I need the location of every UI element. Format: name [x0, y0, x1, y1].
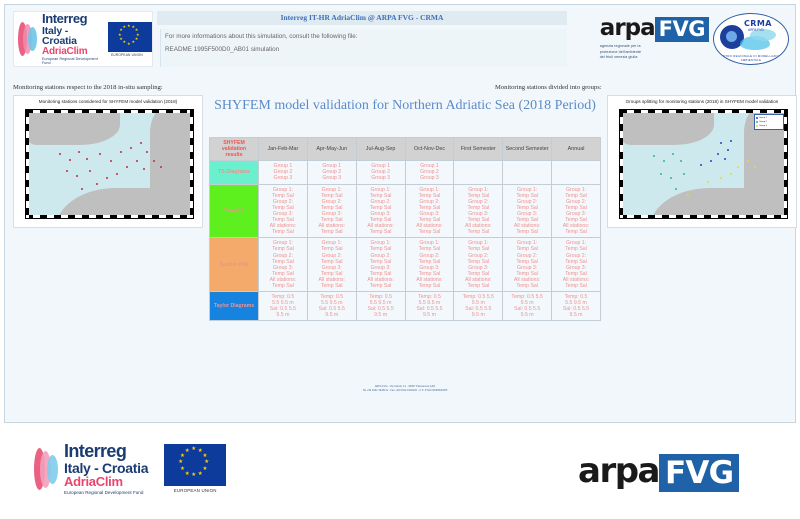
cell-ts-amj[interactable]: Group 1Group 2Group 3 [307, 161, 356, 184]
cell-ts-ond[interactable]: Group 1Group 2Group 3 [405, 161, 454, 184]
map-right-title: Groups splitting for monitoring stations… [608, 99, 796, 104]
simulation-note: For more informations about this simulat… [160, 29, 567, 67]
cell-boxplot-jas[interactable]: Group 1:Temp SalGroup 2:Temp SalGroup 3:… [356, 184, 405, 238]
arpa-crma-logo-header: arpa FVG agenzia regionale per la protez… [573, 9, 789, 69]
eu-flag-icon: ★★★★★★★★★★★★ [164, 444, 226, 486]
cell-boxplot-jfm[interactable]: Group 1:Temp SalGroup 2:Temp SalGroup 3:… [259, 184, 308, 238]
interreg-line2: Italy - Croatia [64, 461, 148, 476]
cell-ts-second-sem [503, 161, 552, 184]
cell-boxplot-annual[interactable]: Group 1:Temp SalGroup 2:Temp SalGroup 3:… [552, 184, 601, 238]
legend-label-group3: Group 3 [759, 124, 767, 128]
axis-top [620, 110, 787, 113]
cell-taylor-annual[interactable]: Temp: 0.55.5 9.5 mSal: 0.5 5.59.5 m [552, 292, 601, 321]
arpa-subtitle-line3: del friuli venezia giulia [600, 55, 709, 60]
arpa-fvg-logo-header: arpa FVG agenzia regionale per la protez… [600, 17, 709, 60]
table-header-row: SHYFEMvalidationresults Jan-Feb-Mar Apr-… [210, 138, 601, 161]
table-row: TS-Diagrams Group 1Group 2Group 3 Group … [210, 161, 601, 184]
interreg-adriaclim-logo-footer: Interreg Italy - Croatia AdriaClim Europ… [34, 442, 226, 496]
cell-boxplot-ond[interactable]: Group 1:Temp SalGroup 2:Temp SalGroup 3:… [405, 184, 454, 238]
interreg-wave-icon [18, 21, 38, 57]
cell-scatter-first-sem[interactable]: Group 1:Temp SalGroup 2:Temp SalGroup 3:… [454, 238, 503, 292]
table-row: Boxplot Group 1:Temp SalGroup 2:Temp Sal… [210, 184, 601, 238]
cell-taylor-amj[interactable]: Temp: 0.55.5 9.5 mSal: 0.5 5.59.5 m [307, 292, 356, 321]
eu-logo-footer: ★★★★★★★★★★★★ EUROPEAN UNION [164, 444, 226, 493]
map-legend: Group 1 Group 2 Group 3 [754, 114, 784, 130]
axis-bottom [620, 215, 787, 218]
cell-scatter-annual[interactable]: Group 1:Temp SalGroup 2:Temp SalGroup 3:… [552, 238, 601, 292]
arpa-fvg-logo-footer: arpa FVG [578, 454, 739, 492]
cell-taylor-jfm[interactable]: Temp: 0.55.5 9.5 mSal: 0.5 5.59.5 m [259, 292, 308, 321]
cell-scatter-jas[interactable]: Group 1:Temp SalGroup 2:Temp SalGroup 3:… [356, 238, 405, 292]
axis-right [190, 110, 193, 218]
eu-flag-icon: ★★★★★★★★★★★★ [108, 22, 152, 52]
map-right-canvas[interactable]: Group 1 Group 2 Group 3 12.8°13.1°13.4°1… [619, 109, 788, 219]
interreg-line3: AdriaClim [64, 475, 148, 489]
eu-caption: EUROPEAN UNION [174, 488, 217, 493]
arpa-wordmark: arpa [578, 454, 659, 488]
cell-boxplot-amj[interactable]: Group 1:Temp SalGroup 2:Temp SalGroup 3:… [307, 184, 356, 238]
simulation-readme-file: README 1995F500D0_AB01 simulation [165, 46, 563, 53]
interreg-line4: European Regional Development Fund [42, 58, 98, 65]
caption-left-map: Monitoring stations respect to the 2018 … [13, 84, 163, 91]
interreg-adriaclim-logo-header: Interreg Italy - Croatia AdriaClim Europ… [13, 11, 153, 67]
cell-ts-jas[interactable]: Group 1Group 2Group 3 [356, 161, 405, 184]
cell-boxplot-second-sem[interactable]: Group 1:Temp SalGroup 2:Temp SalGroup 3:… [503, 184, 552, 238]
interreg-logo-text-footer: Interreg Italy - Croatia AdriaClim Europ… [64, 442, 148, 496]
row-label-scatter-plot[interactable]: Scatter Plot [210, 238, 259, 292]
table-body: TS-Diagrams Group 1Group 2Group 3 Group … [210, 161, 601, 321]
map-left-title: Monitoring stations considered for SHYFE… [14, 99, 202, 104]
legend-item-group3: Group 3 [756, 124, 782, 128]
table-col-first-semester: First Semester [454, 138, 503, 161]
interreg-line4: European Regional Development Fund [64, 491, 148, 496]
axis-left [26, 110, 29, 218]
cell-taylor-jas[interactable]: Temp: 0.55.5 9.5 mSal: 0.5 5.59.5 m [356, 292, 405, 321]
row-label-taylor-diagrams[interactable]: Taylor Diagrams [210, 292, 259, 321]
cell-taylor-second-sem[interactable]: Temp: 0.5 5.59.5 mSal: 0.5 5.59.5 m [503, 292, 552, 321]
axis-top [26, 110, 193, 113]
table-header: SHYFEMvalidationresults Jan-Feb-Mar Apr-… [210, 138, 601, 161]
footer-address: ARPA FVG - Via Cairoli, 14 - 33057 Palma… [209, 385, 601, 393]
landmass-lagoon [69, 116, 112, 133]
cell-taylor-first-sem[interactable]: Temp: 0.5 5.59.5 mSal: 0.5 5.59.5 m [454, 292, 503, 321]
table-row: Scatter Plot Group 1:Temp SalGroup 2:Tem… [210, 238, 601, 292]
axis-bottom [26, 215, 193, 218]
interreg-logo-text: Interreg Italy - Croatia AdriaClim Europ… [42, 12, 98, 65]
cell-scatter-jfm[interactable]: Group 1:Temp SalGroup 2:Temp SalGroup 3:… [259, 238, 308, 292]
table-row: Taylor Diagrams Temp: 0.55.5 9.5 mSal: 0… [210, 292, 601, 321]
cell-ts-first-sem [454, 161, 503, 184]
crma-subtitle: ARPA FVG [748, 28, 764, 32]
table-corner-header: SHYFEMvalidationresults [210, 138, 259, 161]
page-root: Interreg Italy - Croatia AdriaClim Europ… [0, 0, 800, 519]
landmass-lagoon [663, 116, 706, 133]
report-panel: Interreg Italy - Croatia AdriaClim Europ… [4, 4, 796, 423]
map-station-groups[interactable]: Groups splitting for monitoring stations… [607, 95, 797, 228]
arpa-wordmark: arpa [600, 17, 655, 40]
interreg-line1: Interreg [42, 12, 98, 25]
cell-ts-jfm[interactable]: Group 1Group 2Group 3 [259, 161, 308, 184]
interreg-line3: AdriaClim [42, 47, 98, 57]
cell-boxplot-first-sem[interactable]: Group 1:Temp SalGroup 2:Temp SalGroup 3:… [454, 184, 503, 238]
interreg-line2: Italy - Croatia [42, 26, 98, 47]
interreg-wave-icon [34, 446, 60, 492]
cell-ts-annual [552, 161, 601, 184]
map-monitoring-stations[interactable]: Monitoring stations considered for SHYFE… [13, 95, 203, 228]
footer-address-line2: Tel +39 0432 1918111 - Fax +39 0432 1918… [209, 389, 601, 393]
axis-left [620, 110, 623, 218]
map-left-canvas[interactable]: 12.8°13.1°13.4°13.7°14.0°14.3°14.6°45.7°… [25, 109, 194, 219]
table-col-apr-may-jun: Apr-May-Jun [307, 138, 356, 161]
cell-taylor-ond[interactable]: Temp: 0.55.5 9.5 mSal: 0.5 5.59.5 m [405, 292, 454, 321]
row-label-ts-diagrams[interactable]: TS-Diagrams [210, 161, 259, 184]
cell-scatter-amj[interactable]: Group 1:Temp SalGroup 2:Temp SalGroup 3:… [307, 238, 356, 292]
table-col-jul-aug-sep: Jul-Aug-Sep [356, 138, 405, 161]
crma-logo: CRMA ARPA FVG CENTRO REGIONALE DI MODELL… [713, 13, 789, 65]
page-title: Interreg IT-HR AdriaClim @ ARPA FVG - CR… [157, 11, 567, 25]
simulation-note-line1: For more informations about this simulat… [165, 33, 563, 40]
eu-caption: EUROPEAN UNION [111, 53, 143, 57]
interreg-line1: Interreg [64, 442, 148, 461]
row-label-boxplot[interactable]: Boxplot [210, 184, 259, 238]
table-col-jan-feb-mar: Jan-Feb-Mar [259, 138, 308, 161]
fvg-badge: FVG [659, 454, 739, 492]
eu-logo-header: ★★★★★★★★★★★★ EUROPEAN UNION [102, 22, 152, 57]
axis-right [784, 110, 787, 218]
table-col-oct-nov-dec: Oct-Nov-Dec [405, 138, 454, 161]
crma-arc-text: CENTRO REGIONALE DI MODELLAZIONE AMBIENT… [718, 54, 784, 62]
table-col-second-semester: Second Semester [503, 138, 552, 161]
crma-wordmark: CRMA [744, 19, 772, 28]
table-title: SHYFEM model validation for Northern Adr… [209, 98, 601, 114]
caption-right-map: Monitoring stations divided into groups: [495, 84, 602, 91]
fvg-badge: FVG [655, 17, 709, 42]
footer-logo-strip: Interreg Italy - Croatia AdriaClim Europ… [0, 430, 800, 519]
cell-scatter-second-sem[interactable]: Group 1:Temp SalGroup 2:Temp SalGroup 3:… [503, 238, 552, 292]
cell-scatter-ond[interactable]: Group 1:Temp SalGroup 2:Temp SalGroup 3:… [405, 238, 454, 292]
table-col-annual: Annual [552, 138, 601, 161]
arpa-subtitle: agenzia regionale per la protezione dell… [600, 44, 709, 60]
validation-results-table: SHYFEMvalidationresults Jan-Feb-Mar Apr-… [209, 137, 601, 321]
